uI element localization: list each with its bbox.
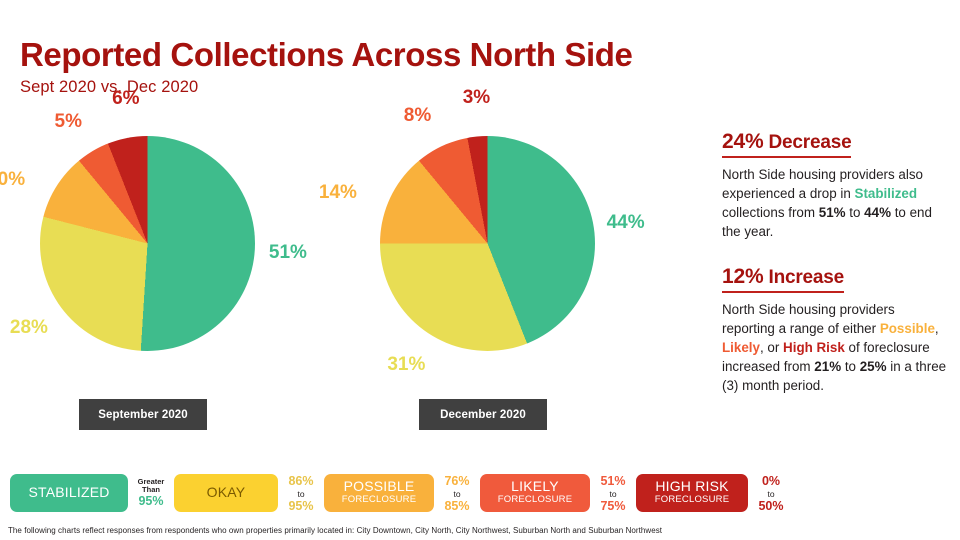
pie-slice-label-december-2: 14% [319,182,357,204]
chart-caption-december: December 2020 [419,399,547,430]
legend-pill-4[interactable]: LIKELYFORECLOSURE [480,474,590,512]
callout-heading-1: 24% Decrease [722,130,851,158]
callout-body-1: North Side housing providers also experi… [722,165,950,241]
legend-pill-1[interactable]: STABILIZED [10,474,128,512]
pie-graphic-september [40,136,255,351]
legend-pill-label: OKAY [207,485,246,500]
page-title: Reported Collections Across North Side [20,38,633,73]
legend-range-low: 85% [438,500,476,513]
legend-range-separator: to [438,490,476,499]
legend-item-high-risk[interactable]: HIGH RISKFORECLOSURE0%to50% [636,473,794,512]
legend-pill-3[interactable]: POSSIBLEFORECLOSURE [324,474,434,512]
legend-range-separator: to [752,490,790,499]
callout-direction-1: Decrease [763,132,851,153]
footnote: The following charts reflect responses f… [8,526,662,535]
risk-legend: STABILIZEDGreaterThan95%OKAY86%to95%POSS… [10,473,794,512]
body-keyword-bold: 51% [819,205,846,220]
legend-pill-label: STABILIZED [28,485,109,500]
body-keyword-highrisk: High Risk [783,340,845,355]
pie-slice-label-september-4: 6% [112,88,139,110]
body-text: to [846,205,865,220]
legend-item-likely[interactable]: LIKELYFORECLOSURE51%to75% [480,473,636,512]
legend-pill-5[interactable]: HIGH RISKFORECLOSURE [636,474,748,512]
legend-range-low: 50% [752,500,790,513]
pie-slice-label-december-4: 3% [463,87,490,109]
legend-range-high: 86% [288,474,313,488]
legend-pill-sublabel: FORECLOSURE [342,495,417,506]
pie-slice-label-september-2: 10% [0,169,25,191]
body-text: to [841,359,860,374]
callout-direction-2: Increase [763,267,844,288]
legend-pill-label: LIKELY [511,479,559,494]
legend-range-separator: to [594,490,632,499]
legend-range-low: 95% [282,500,320,513]
pie-slice-label-december-0: 44% [607,212,645,234]
pie-slice-label-september-3: 5% [55,111,82,133]
pie-graphic-december [380,136,595,351]
legend-item-okay[interactable]: OKAY86%to95% [174,473,324,512]
legend-range-high: 51% [600,474,625,488]
legend-range-high: 0% [762,474,780,488]
pie-slice-label-september-1: 28% [10,317,48,339]
legend-range-4: 51%to75% [594,473,632,512]
pie-chart-december: 44% 31% 14% 8% 3% December 2020 [362,130,612,430]
legend-range-separator: to [282,490,320,499]
legend-range-3: 76%to85% [438,473,476,512]
legend-range-low: 75% [594,500,632,513]
body-text: collections from [722,205,819,220]
body-keyword-stabilized: Stabilized [855,186,918,201]
callout-1: 24% DecreaseNorth Side housing providers… [722,130,950,241]
body-keyword-bold: 25% [860,359,887,374]
body-text: , [935,321,939,336]
legend-pill-sublabel: FORECLOSURE [498,495,573,506]
callout-heading-2: 12% Increase [722,265,844,293]
callout-percent-1: 24% [722,130,763,153]
legend-item-stabilized[interactable]: STABILIZEDGreaterThan95% [10,474,174,512]
body-keyword-bold: 21% [814,359,841,374]
legend-range-prefix: GreaterThan [132,478,170,495]
pie-slice-label-december-3: 8% [404,105,431,127]
legend-range-5: 0%to50% [752,473,790,512]
body-keyword-possible: Possible [880,321,935,336]
legend-range-2: 86%to95% [282,473,320,512]
legend-pill-2[interactable]: OKAY [174,474,278,512]
legend-range-high: 76% [444,474,469,488]
body-text: , or [760,340,783,355]
legend-pill-label: POSSIBLE [344,479,415,494]
insights-panel: 24% DecreaseNorth Side housing providers… [722,130,950,419]
body-keyword-likely: Likely [722,340,760,355]
legend-range-1: GreaterThan95% [132,478,170,508]
chart-caption-september: September 2020 [79,399,207,430]
callout-2: 12% IncreaseNorth Side housing providers… [722,265,950,395]
legend-pill-sublabel: FORECLOSURE [655,495,730,506]
pie-wrap-september: 51% 28% 10% 5% 6% [22,136,272,386]
legend-pill-label: HIGH RISK [655,479,728,494]
pie-wrap-december: 44% 31% 14% 8% 3% [362,136,612,386]
pie-chart-september: 51% 28% 10% 5% 6% September 2020 [22,130,272,430]
callout-percent-2: 12% [722,265,763,288]
body-keyword-bold: 44% [864,205,891,220]
pie-slice-label-december-1: 31% [387,354,425,376]
legend-item-possible[interactable]: POSSIBLEFORECLOSURE76%to85% [324,473,480,512]
pie-slice-label-september-0: 51% [269,242,307,264]
legend-range-low: 95% [132,495,170,508]
callout-body-2: North Side housing providers reporting a… [722,300,950,395]
body-text: North Side housing providers reporting a… [722,302,895,336]
